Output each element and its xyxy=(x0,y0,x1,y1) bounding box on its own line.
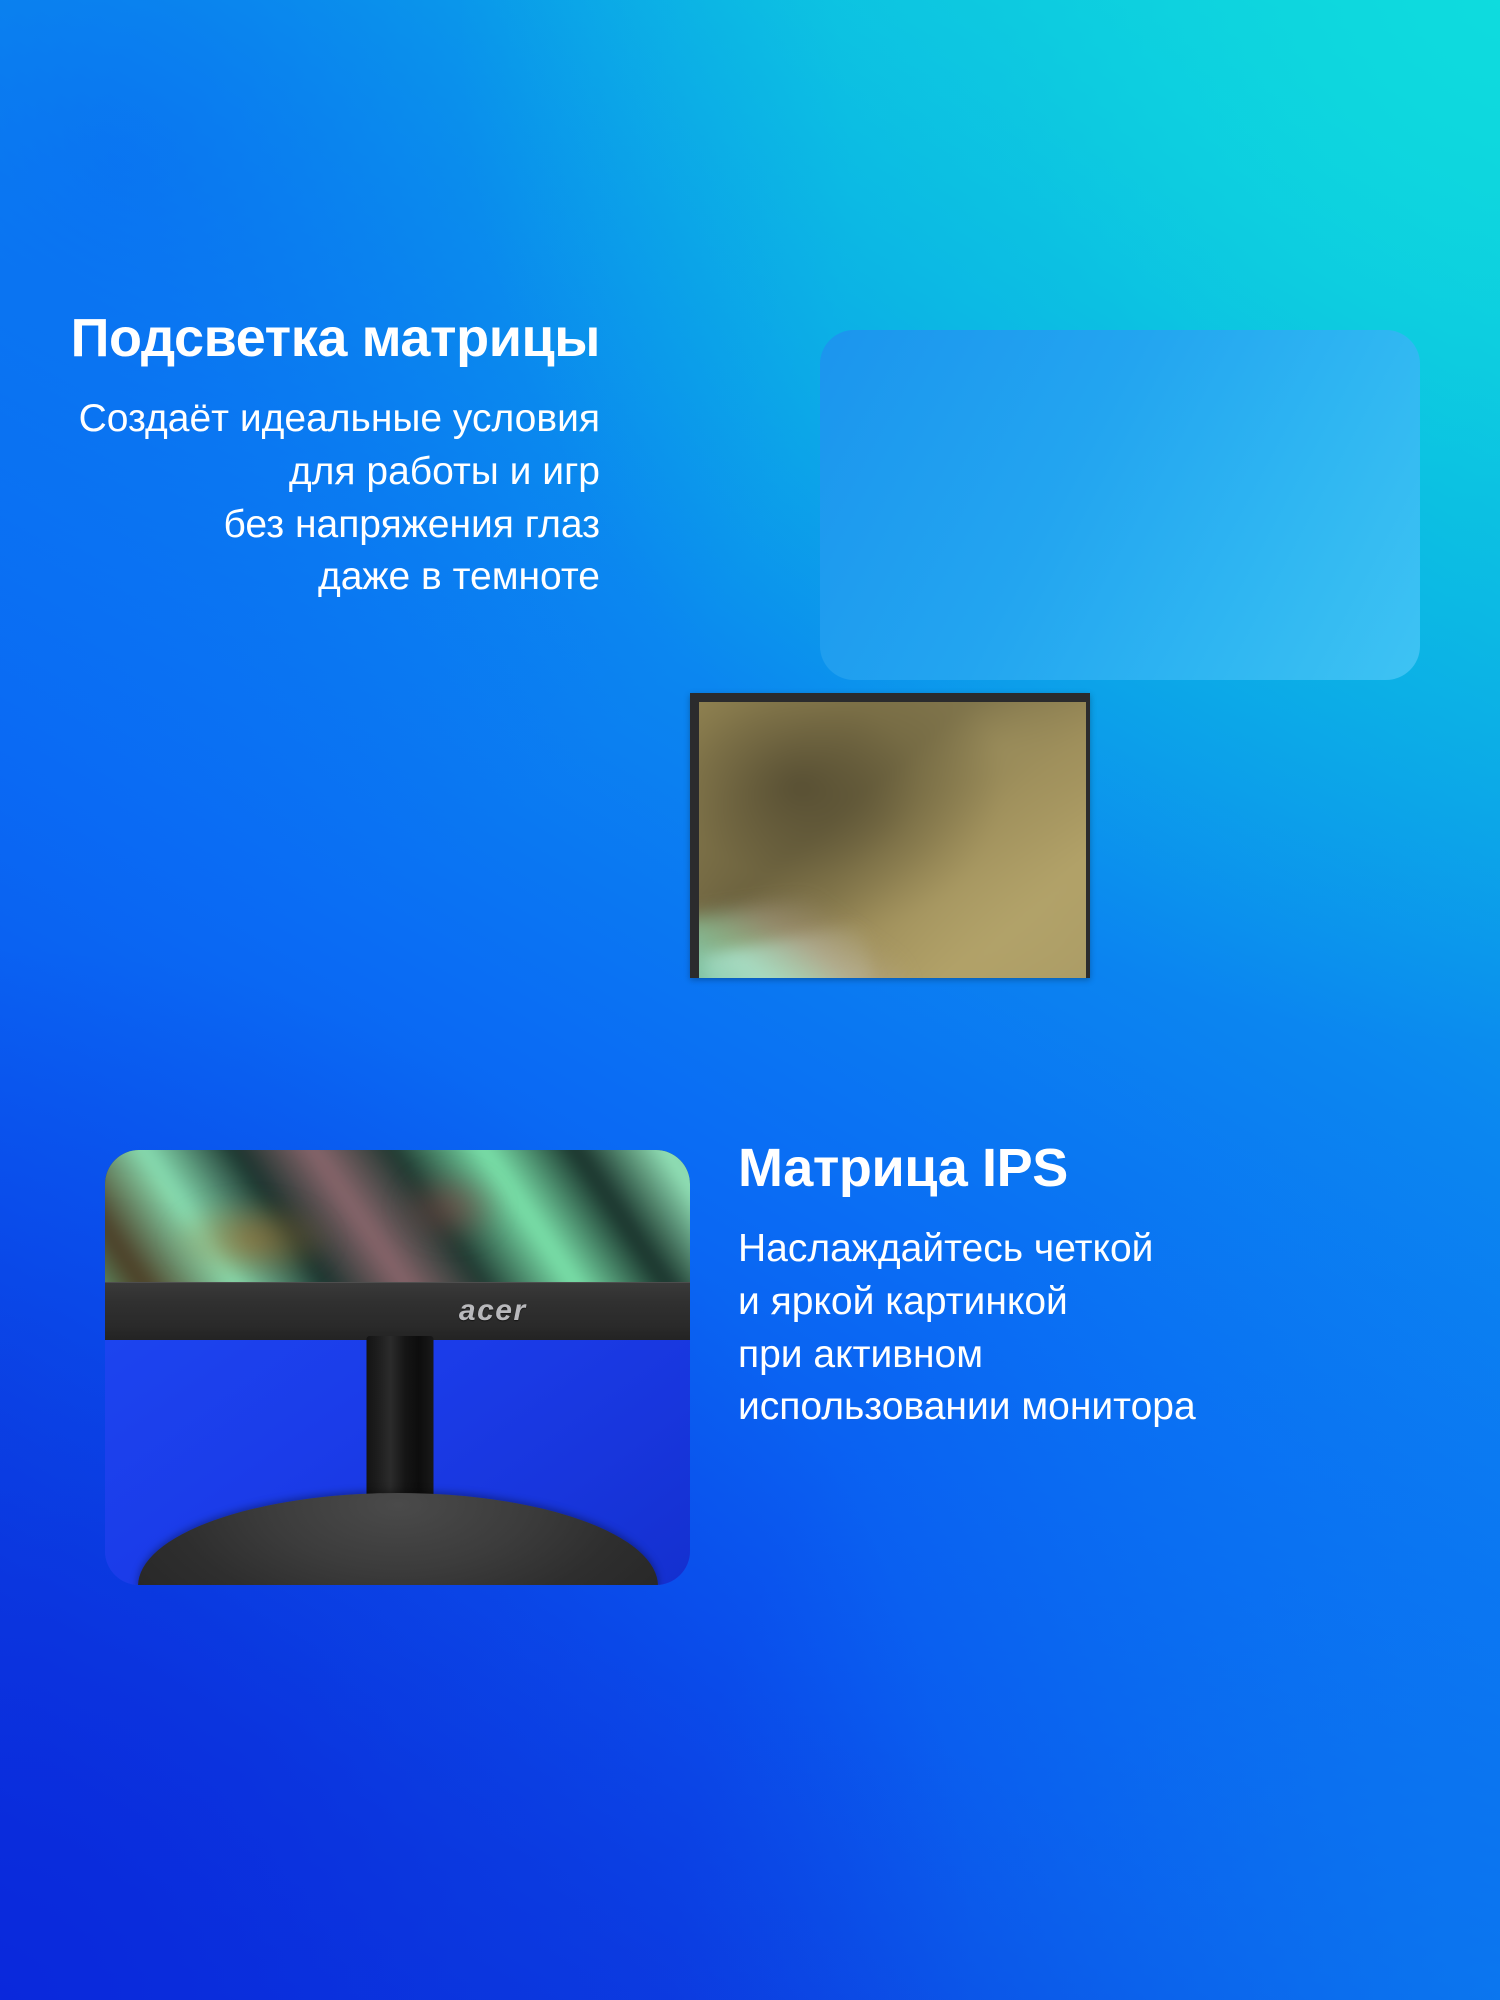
feature-title-backlight: Подсветка матрицы xyxy=(0,310,600,367)
acer-brand-logo: acer xyxy=(459,1294,527,1328)
screen-warm-highlight xyxy=(152,1190,351,1282)
monitor-screen-closeup-image xyxy=(690,693,1090,978)
description-line: Наслаждайтесь четкой xyxy=(738,1223,1438,1276)
feature-block-backlight: Подсветка матрицы Создаёт идеальные усло… xyxy=(0,300,1500,720)
feature-description-backlight: Создаёт идеальные условия для работы и и… xyxy=(0,393,600,604)
description-line: при активном xyxy=(738,1329,1438,1382)
monitor-stand-column xyxy=(366,1336,433,1514)
feature-description-ips-matrix: Наслаждайтесь четкой и яркой картинкой п… xyxy=(738,1223,1438,1434)
monitor-bezel-inner xyxy=(699,702,1086,978)
description-line: Создаёт идеальные условия xyxy=(0,393,600,446)
description-line: для работы и игр xyxy=(0,446,600,499)
feature-title-ips-matrix: Матрица IPS xyxy=(738,1140,1438,1197)
description-line: использовании монитора xyxy=(738,1381,1438,1434)
monitor-screen-band xyxy=(105,1150,690,1282)
description-line: даже в темноте xyxy=(0,551,600,604)
description-line: и яркой картинкой xyxy=(738,1276,1438,1329)
screen-warm-highlight-secondary xyxy=(386,1161,515,1253)
description-line: без напряжения глаз xyxy=(0,499,600,552)
acer-monitor-stand-image: acer xyxy=(105,1150,690,1585)
feature-block-ips-matrix: acer Матрица IPS Наслаждайтесь четкой и … xyxy=(0,1140,1500,1570)
feature-text-backlight: Подсветка матрицы Создаёт идеальные усло… xyxy=(0,310,600,604)
monitor-bezel: acer xyxy=(105,1282,690,1340)
feature-text-ips-matrix: Матрица IPS Наслаждайтесь четкой и яркой… xyxy=(738,1140,1438,1434)
feature-image-card-backlight xyxy=(820,330,1420,680)
